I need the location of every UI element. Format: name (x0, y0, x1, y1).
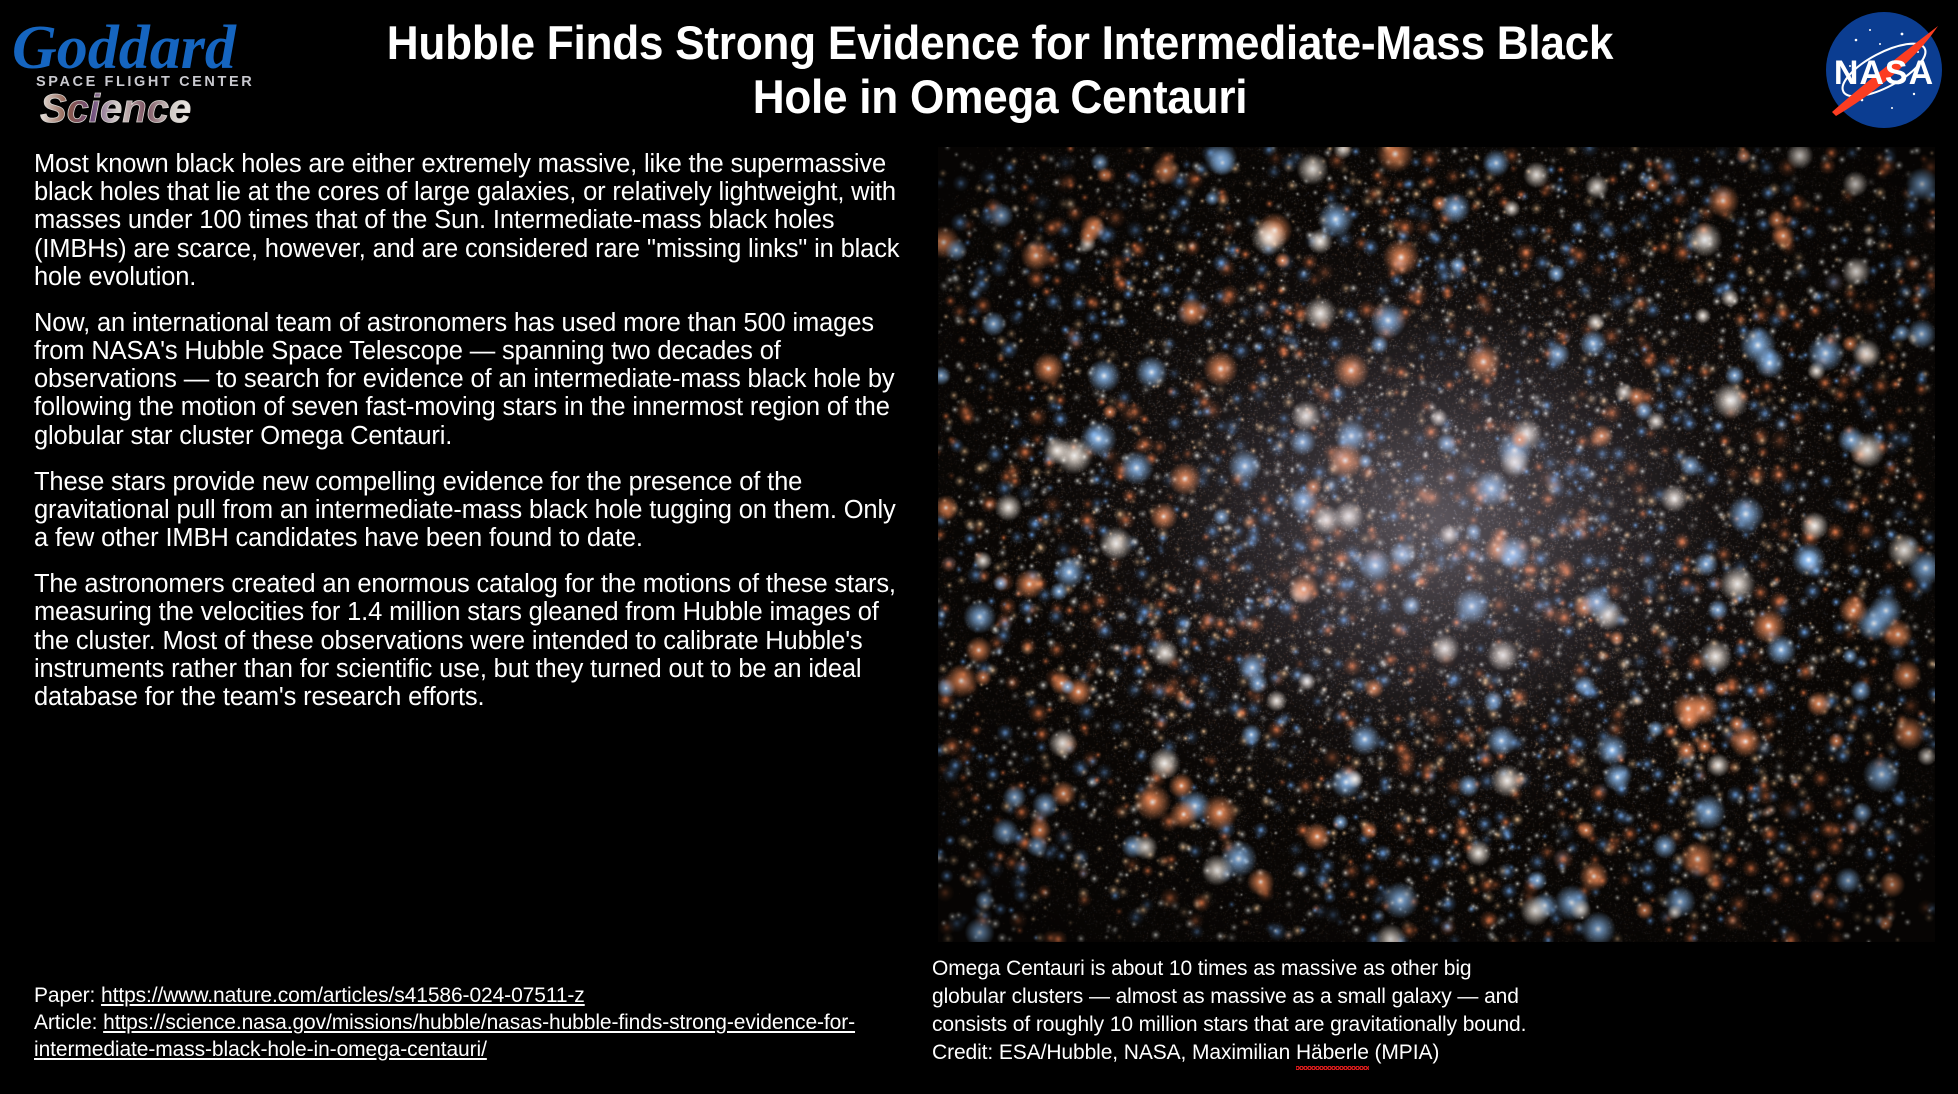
credit-misspelled-word: Häberle (1296, 1039, 1369, 1067)
goddard-science-logo: Goddard SPACE FLIGHT CENTER Science (8, 6, 268, 130)
caption-line-3: consists of roughly 10 million stars tha… (932, 1011, 1942, 1039)
article-body: Most known black holes are either extrem… (34, 150, 906, 729)
figure-caption: Omega Centauri is about 10 times as mass… (932, 955, 1942, 1067)
credit-prefix: Credit: ESA/Hubble, NASA, Maximilian (932, 1041, 1296, 1064)
body-paragraph-3: These stars provide new compelling evide… (34, 468, 906, 553)
page-title: Hubble Finds Strong Evidence for Interme… (342, 16, 1658, 123)
paper-label: Paper: (34, 984, 101, 1007)
goddard-wordmark-text: Goddard (12, 14, 237, 82)
star-cluster-canvas (938, 147, 1935, 942)
reference-links: Paper: https://www.nature.com/articles/s… (34, 982, 914, 1063)
caption-line-1: Omega Centauri is about 10 times as mass… (932, 955, 1942, 983)
paper-link-row: Paper: https://www.nature.com/articles/s… (34, 982, 914, 1009)
nasa-logo: NASA (1822, 8, 1946, 132)
body-paragraph-2: Now, an international team of astronomer… (34, 309, 906, 450)
nasa-wordmark-text: NASA (1834, 54, 1934, 92)
body-paragraph-1: Most known black holes are either extrem… (34, 150, 906, 291)
body-paragraph-4: The astronomers created an enormous cata… (34, 570, 906, 711)
goddard-science-text: Science (40, 87, 191, 130)
presentation-slide: Goddard SPACE FLIGHT CENTER Science Hubb… (0, 0, 1958, 1094)
article-link[interactable]: https://science.nasa.gov/missions/hubble… (34, 1011, 855, 1061)
credit-suffix: (MPIA) (1369, 1041, 1439, 1064)
nasa-logo-svg: NASA (1822, 8, 1946, 132)
omega-centauri-image (938, 147, 1935, 942)
goddard-logo-svg: Goddard SPACE FLIGHT CENTER Science (8, 6, 268, 130)
caption-line-2: globular clusters — almost as massive as… (932, 983, 1942, 1011)
article-link-row: Article: https://science.nasa.gov/missio… (34, 1009, 914, 1063)
paper-link[interactable]: https://www.nature.com/articles/s41586-0… (101, 984, 585, 1007)
caption-credit-line: Credit: ESA/Hubble, NASA, Maximilian Häb… (932, 1039, 1942, 1067)
article-label: Article: (34, 1011, 103, 1034)
